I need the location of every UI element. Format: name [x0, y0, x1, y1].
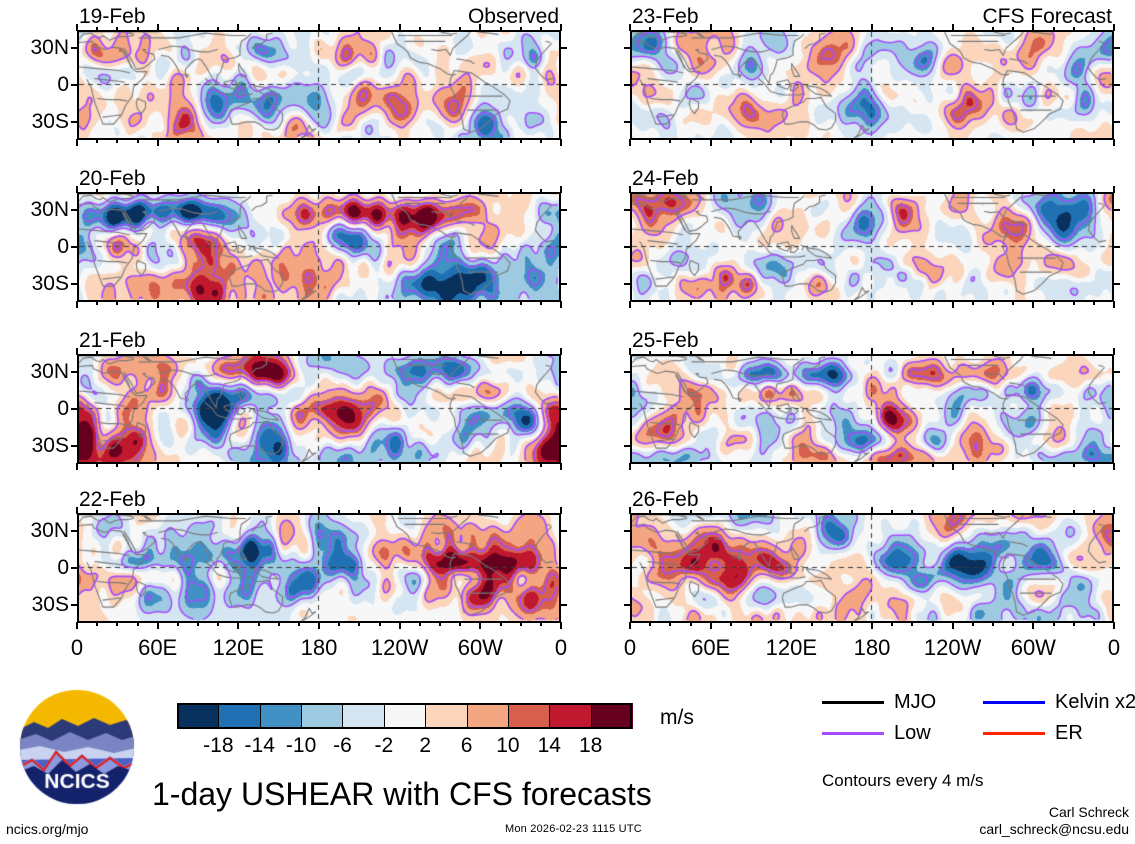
map-field [79, 356, 559, 462]
x-tick [479, 622, 481, 629]
x-tick [520, 463, 522, 467]
x-tick [479, 24, 481, 31]
x-tick [629, 24, 631, 31]
x-tick [217, 27, 219, 31]
y-axis-label: 30N [0, 520, 69, 541]
x-tick [891, 622, 893, 626]
x-tick [871, 139, 873, 146]
x-tick [629, 139, 631, 146]
contour-interval-note: Contours every 4 m/s [822, 772, 984, 789]
x-tick [811, 351, 813, 355]
x-tick [851, 139, 853, 143]
x-tick [730, 622, 732, 626]
x-tick [1113, 301, 1115, 308]
x-tick [891, 139, 893, 143]
y-tick [560, 246, 567, 248]
x-tick [258, 189, 260, 193]
x-tick [177, 301, 179, 305]
x-tick [439, 463, 441, 467]
x-tick [439, 351, 441, 355]
x-tick [358, 301, 360, 305]
x-tick [479, 507, 481, 514]
y-tick [560, 209, 567, 211]
x-tick [258, 463, 260, 467]
x-tick [157, 186, 159, 193]
y-tick [71, 209, 78, 211]
x-tick [770, 463, 772, 467]
x-tick [710, 463, 712, 470]
x-tick [871, 507, 873, 514]
panel-date-label: 24-Feb [632, 168, 699, 189]
x-tick [669, 27, 671, 31]
y-axis-label: 30N [0, 37, 69, 58]
x-tick [911, 27, 913, 31]
legend-label: Kelvin x2 [1055, 692, 1135, 712]
x-tick [992, 27, 994, 31]
x-tick [399, 507, 401, 514]
y-tick [1113, 121, 1120, 123]
x-tick [952, 622, 954, 629]
y-tick [1113, 371, 1120, 373]
x-tick [811, 189, 813, 193]
x-tick [992, 510, 994, 514]
x-tick [379, 463, 381, 467]
x-tick [137, 27, 139, 31]
x-tick [560, 139, 562, 146]
x-tick [669, 301, 671, 305]
x-tick [379, 351, 381, 355]
x-tick [1073, 301, 1075, 305]
x-tick [952, 348, 954, 355]
x-tick [992, 139, 994, 143]
x-tick [690, 189, 692, 193]
x-tick [750, 189, 752, 193]
x-tick [750, 301, 752, 305]
x-tick [790, 24, 792, 31]
x-tick [419, 139, 421, 143]
x-tick [237, 463, 239, 470]
x-tick [932, 351, 934, 355]
y-tick [71, 283, 78, 285]
x-tick [500, 510, 502, 514]
y-tick [1113, 283, 1120, 285]
y-tick [1113, 84, 1120, 86]
x-tick [851, 27, 853, 31]
x-tick [1012, 622, 1014, 626]
x-tick [217, 622, 219, 626]
x-tick [500, 27, 502, 31]
x-tick [137, 463, 139, 467]
x-tick [338, 510, 340, 514]
x-tick [116, 622, 118, 626]
x-tick [217, 351, 219, 355]
legend-line-swatch [983, 701, 1045, 704]
x-tick [76, 463, 78, 470]
x-tick [237, 507, 239, 514]
x-tick [811, 463, 813, 467]
legend-label: Low [894, 723, 931, 743]
x-tick [831, 463, 833, 467]
x-tick [96, 27, 98, 31]
x-tick [116, 463, 118, 467]
x-tick [932, 622, 934, 626]
x-tick [217, 510, 219, 514]
x-tick [891, 189, 893, 193]
x-tick [278, 27, 280, 31]
x-tick [1032, 301, 1034, 308]
x-tick [932, 463, 934, 467]
x-tick [871, 301, 873, 308]
x-tick [629, 186, 631, 193]
x-tick [358, 622, 360, 626]
y-tick [624, 246, 631, 248]
x-tick [770, 351, 772, 355]
y-axis-label: 30S [0, 111, 69, 132]
column-header-right: CFS Forecast [982, 6, 1112, 27]
y-tick [71, 567, 78, 569]
x-tick [1093, 622, 1095, 626]
x-tick [952, 24, 954, 31]
x-tick [972, 351, 974, 355]
x-tick [1053, 351, 1055, 355]
map-frame [77, 192, 561, 302]
x-tick [459, 27, 461, 31]
x-tick [419, 463, 421, 467]
x-tick [690, 510, 692, 514]
x-tick [439, 27, 441, 31]
x-tick [1073, 351, 1075, 355]
x-tick [258, 622, 260, 626]
x-tick [1012, 189, 1014, 193]
map-field [79, 515, 559, 621]
x-tick [338, 139, 340, 143]
x-tick [750, 510, 752, 514]
x-tick [439, 510, 441, 514]
y-tick [624, 47, 631, 49]
x-tick [520, 27, 522, 31]
colorbar-divider [591, 703, 592, 729]
x-tick [770, 301, 772, 305]
x-tick [96, 622, 98, 626]
x-tick [1093, 189, 1095, 193]
x-tick [690, 622, 692, 626]
x-tick [1113, 507, 1115, 514]
x-tick [669, 139, 671, 143]
x-tick [358, 139, 360, 143]
x-tick [379, 301, 381, 305]
x-tick [871, 24, 873, 31]
x-tick [649, 351, 651, 355]
x-tick [972, 189, 974, 193]
x-tick [911, 189, 913, 193]
ncics-logo-icon [18, 688, 136, 806]
x-tick [972, 622, 974, 626]
legend-item-mjo: MJO [822, 692, 972, 714]
x-tick [177, 351, 179, 355]
x-tick [669, 463, 671, 467]
x-tick [318, 622, 320, 629]
x-tick [730, 27, 732, 31]
x-tick [399, 622, 401, 629]
x-tick [338, 351, 340, 355]
x-tick [459, 301, 461, 305]
y-tick [71, 530, 78, 532]
x-tick [439, 139, 441, 143]
y-tick [1113, 567, 1120, 569]
x-tick [338, 622, 340, 626]
x-tick [379, 189, 381, 193]
map-frame [77, 30, 561, 140]
x-tick [972, 139, 974, 143]
x-tick [540, 351, 542, 355]
x-tick [177, 189, 179, 193]
legend-item-kelvin-x2: Kelvin x2 [983, 692, 1133, 714]
footer-email: carl_schreck@ncsu.edu [979, 822, 1129, 836]
map-field [632, 356, 1112, 462]
x-tick [629, 301, 631, 308]
x-axis-label: 60W [988, 637, 1078, 659]
colorbar-divider [467, 703, 468, 729]
x-tick [1032, 622, 1034, 629]
x-tick [811, 622, 813, 626]
x-tick [116, 510, 118, 514]
x-tick [952, 463, 954, 470]
x-tick [157, 463, 159, 470]
x-tick [629, 507, 631, 514]
y-tick [1113, 445, 1120, 447]
x-tick [560, 186, 562, 193]
x-tick [439, 622, 441, 626]
x-tick [790, 463, 792, 470]
x-tick [459, 622, 461, 626]
y-tick [624, 567, 631, 569]
x-tick [540, 622, 542, 626]
y-axis-label: 0 [0, 74, 69, 95]
x-tick [911, 301, 913, 305]
x-tick [911, 139, 913, 143]
x-tick [690, 139, 692, 143]
x-tick [790, 139, 792, 146]
x-tick [710, 24, 712, 31]
footer-timestamp: Mon 2026-02-23 1115 UTC [505, 824, 642, 835]
x-tick [298, 27, 300, 31]
y-tick [624, 121, 631, 123]
colorbar-divider [260, 703, 261, 729]
y-tick [560, 47, 567, 49]
x-tick [298, 301, 300, 305]
x-tick [379, 139, 381, 143]
x-tick [520, 622, 522, 626]
legend-line-swatch [822, 701, 884, 704]
x-tick [137, 189, 139, 193]
x-tick [1012, 27, 1014, 31]
x-tick [1012, 463, 1014, 467]
x-tick [770, 510, 772, 514]
map-field [79, 194, 559, 300]
x-axis-label: 120E [193, 637, 283, 659]
x-tick [459, 139, 461, 143]
x-tick [237, 348, 239, 355]
x-tick [992, 463, 994, 467]
map-frame [630, 513, 1114, 623]
x-tick [1113, 622, 1115, 629]
x-tick [318, 348, 320, 355]
map-field [632, 194, 1112, 300]
y-axis-label: 30S [0, 435, 69, 456]
x-tick [710, 301, 712, 308]
x-tick [811, 510, 813, 514]
x-tick [1053, 139, 1055, 143]
map-field [632, 32, 1112, 138]
x-tick [459, 463, 461, 467]
x-tick [851, 622, 853, 626]
colorbar-divider [384, 703, 385, 729]
x-tick [358, 27, 360, 31]
x-tick [540, 301, 542, 305]
x-tick [992, 301, 994, 305]
x-tick [399, 463, 401, 470]
x-tick [911, 510, 913, 514]
x-tick [932, 27, 934, 31]
map-frame [630, 354, 1114, 464]
x-tick [629, 463, 631, 470]
x-tick [500, 301, 502, 305]
x-tick [1032, 348, 1034, 355]
x-tick [399, 139, 401, 146]
x-tick [649, 463, 651, 467]
y-tick [1113, 47, 1120, 49]
x-tick [116, 27, 118, 31]
map-field [79, 32, 559, 138]
x-tick [197, 622, 199, 626]
x-tick [932, 189, 934, 193]
x-axis-label: 0 [585, 637, 675, 659]
map-frame [77, 354, 561, 464]
y-tick [560, 121, 567, 123]
y-tick [624, 530, 631, 532]
x-tick [479, 348, 481, 355]
x-tick [649, 622, 651, 626]
x-tick [278, 463, 280, 467]
x-tick [520, 510, 522, 514]
footer-site-link[interactable]: ncics.org/mjo [6, 822, 88, 836]
x-tick [76, 139, 78, 146]
x-tick [298, 189, 300, 193]
colorbar-tick-label: 18 [561, 735, 621, 756]
x-tick [258, 510, 260, 514]
x-tick [76, 622, 78, 629]
y-axis-label: 30N [0, 199, 69, 220]
x-tick [710, 186, 712, 193]
y-axis-label: 0 [0, 236, 69, 257]
x-tick [318, 301, 320, 308]
x-tick [278, 189, 280, 193]
x-tick [197, 510, 199, 514]
x-tick [1113, 463, 1115, 470]
x-tick [540, 189, 542, 193]
x-tick [1012, 301, 1014, 305]
x-tick [1032, 139, 1034, 146]
map-frame [630, 30, 1114, 140]
y-axis-label: 0 [0, 557, 69, 578]
x-tick [318, 463, 320, 470]
y-tick [1113, 246, 1120, 248]
x-tick [379, 27, 381, 31]
x-tick [157, 507, 159, 514]
x-tick [96, 463, 98, 467]
x-tick [750, 139, 752, 143]
x-tick [560, 463, 562, 470]
x-tick [730, 351, 732, 355]
x-tick [439, 301, 441, 305]
x-tick [992, 189, 994, 193]
x-tick [560, 622, 562, 629]
x-tick [217, 189, 219, 193]
x-tick [891, 351, 893, 355]
x-tick [258, 139, 260, 143]
y-axis-label: 0 [0, 398, 69, 419]
x-tick [649, 139, 651, 143]
y-tick [71, 408, 78, 410]
x-tick [1073, 510, 1075, 514]
x-tick [479, 139, 481, 146]
legend-item-low: Low [822, 723, 972, 745]
x-tick [157, 139, 159, 146]
x-tick [790, 301, 792, 308]
x-tick [540, 27, 542, 31]
x-tick [1032, 24, 1034, 31]
x-tick [116, 189, 118, 193]
x-tick [1053, 622, 1055, 626]
x-tick [298, 622, 300, 626]
x-tick [278, 301, 280, 305]
x-tick [137, 510, 139, 514]
x-tick [790, 622, 792, 629]
x-axis-label: 120W [355, 637, 445, 659]
x-tick [278, 139, 280, 143]
x-tick [258, 27, 260, 31]
x-tick [871, 186, 873, 193]
x-tick [96, 510, 98, 514]
x-tick [157, 24, 159, 31]
x-tick [871, 622, 873, 629]
y-tick [1113, 604, 1120, 606]
x-tick [952, 301, 954, 308]
x-tick [318, 139, 320, 146]
x-tick [258, 351, 260, 355]
x-tick [560, 348, 562, 355]
x-tick [318, 24, 320, 31]
x-tick [629, 622, 631, 629]
x-tick [358, 510, 360, 514]
x-tick [197, 301, 199, 305]
x-tick [217, 463, 219, 467]
x-tick [419, 622, 421, 626]
x-tick [690, 351, 692, 355]
y-axis-label: 30N [0, 361, 69, 382]
x-tick [932, 301, 934, 305]
x-tick [992, 351, 994, 355]
x-tick [1093, 510, 1095, 514]
x-tick [298, 510, 300, 514]
x-axis-label: 60E [666, 637, 756, 659]
x-tick [399, 24, 401, 31]
x-tick [1073, 622, 1075, 626]
x-tick [1073, 463, 1075, 467]
x-tick [770, 622, 772, 626]
x-axis-label: 180 [827, 637, 917, 659]
y-axis-label: 30S [0, 273, 69, 294]
